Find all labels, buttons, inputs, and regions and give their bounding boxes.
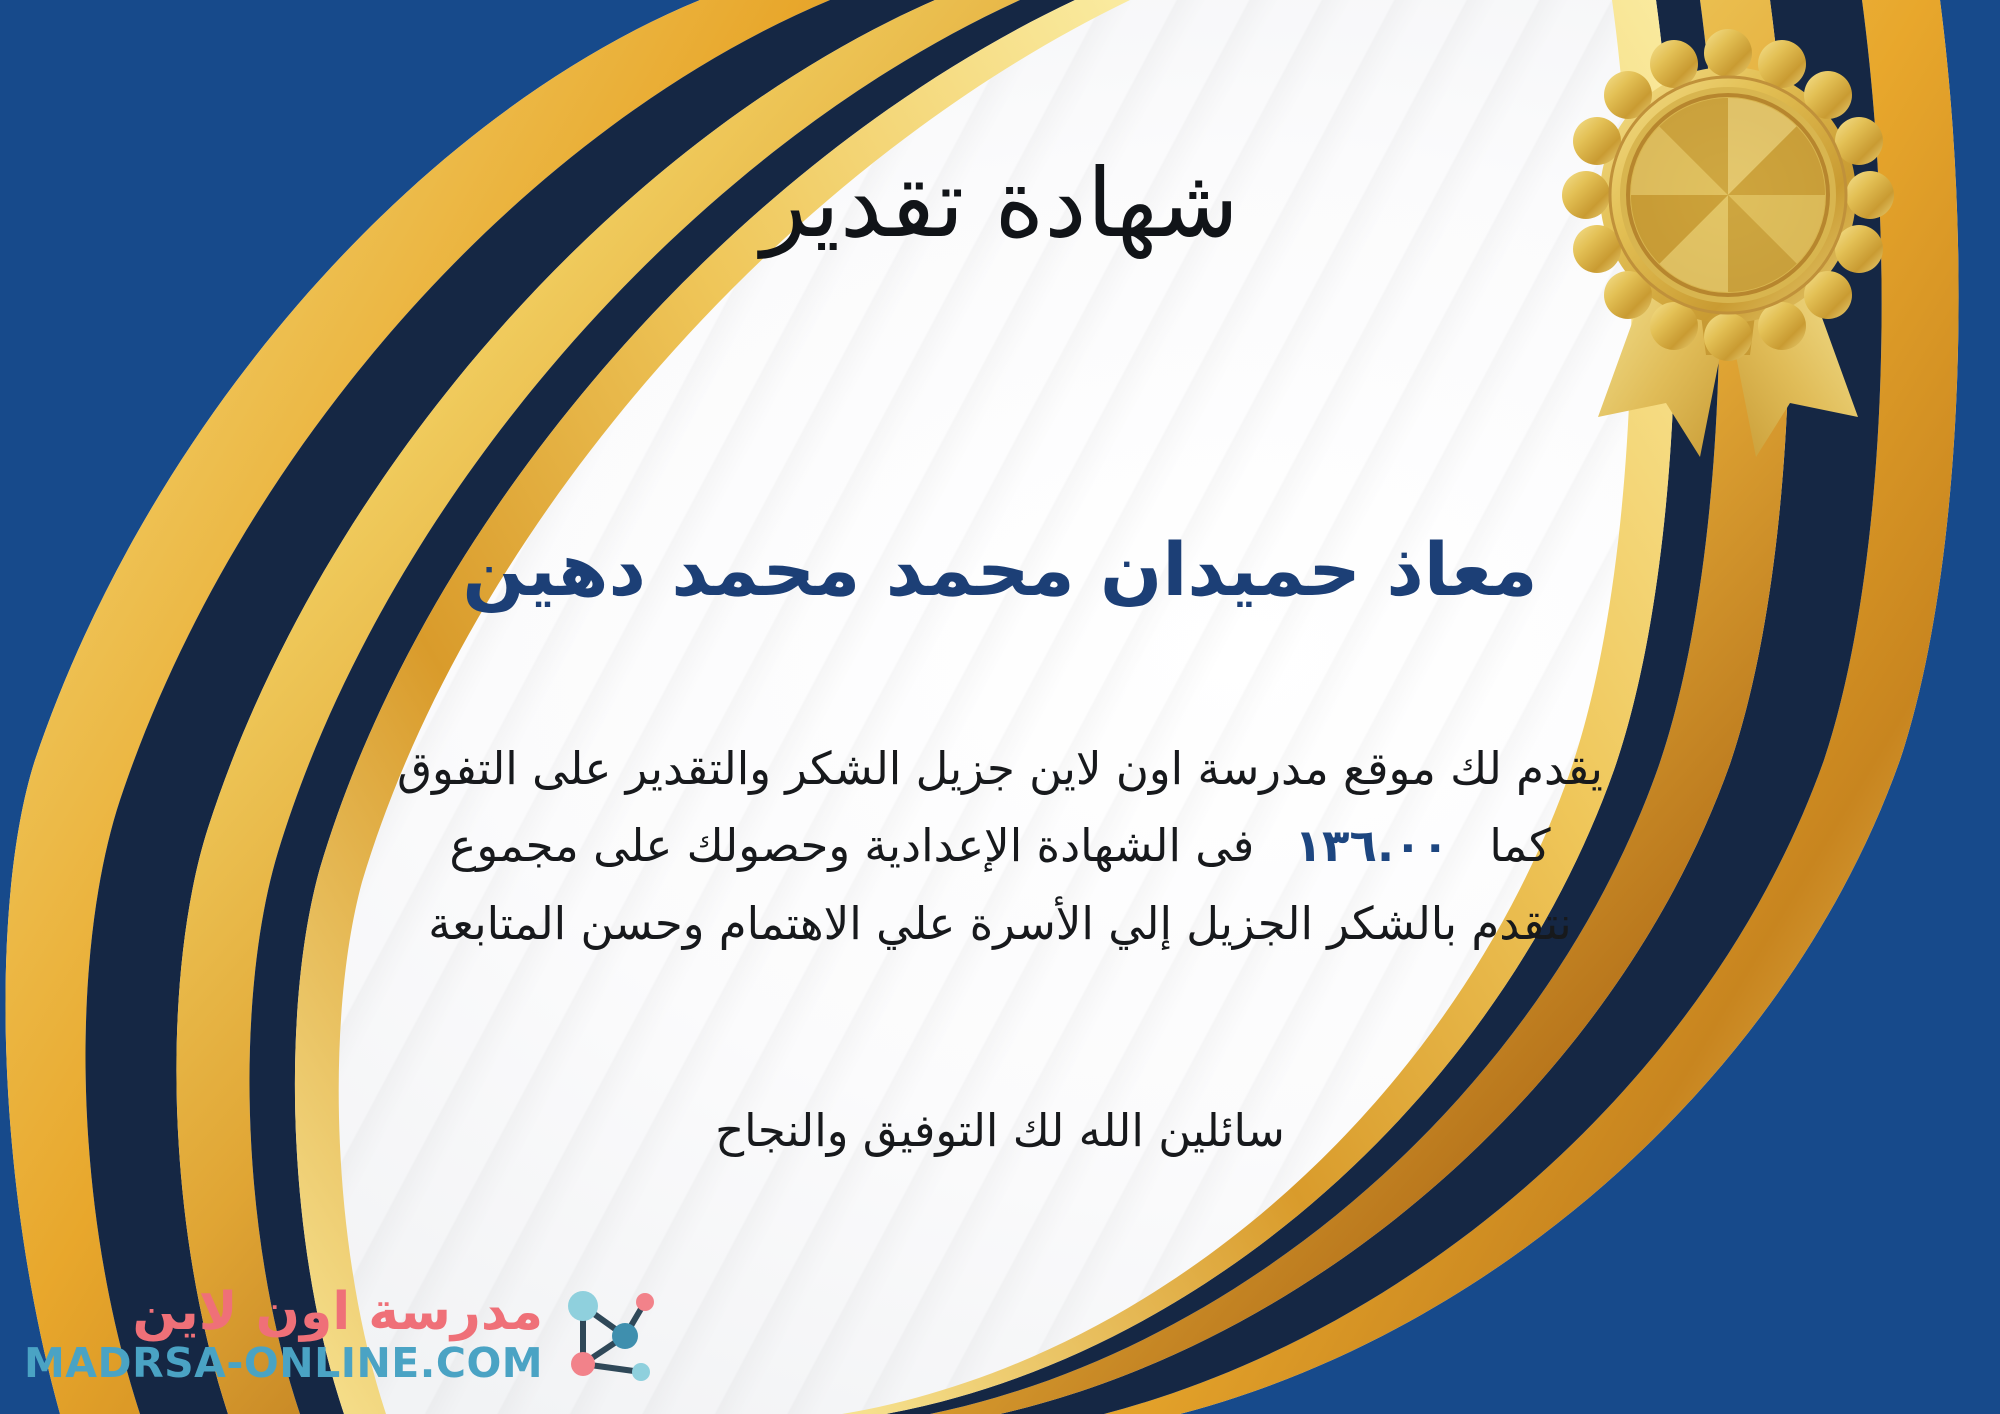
body-line-2-prefix: فى الشهادة الإعدادية وحصولك على مجموع: [450, 819, 1255, 872]
closing-line: سائلين الله لك التوفيق والنجاح: [0, 1095, 2000, 1167]
body-line-3: نتقدم بالشكر الجزيل إلي الأسرة علي الاهت…: [300, 885, 1700, 962]
student-name: معاذ حميدان محمد محمد دهين: [0, 525, 2000, 616]
certificate-content: شهادة تقدير معاذ حميدان محمد محمد دهين ي…: [0, 0, 2000, 1414]
body-line-2: كما ١٣٦.٠٠ فى الشهادة الإعدادية وحصولك ع…: [300, 807, 1700, 884]
logo-arabic-name: مدرسة اون لاين: [24, 1285, 543, 1340]
logo-text-group: مدرسة اون لاين MADRSA-ONLINE.COM: [24, 1285, 543, 1388]
score-value: ١٣٦.٠٠: [1269, 819, 1475, 872]
body-line-2-suffix: كما: [1489, 819, 1550, 872]
logo-website-url: MADRSA-ONLINE.COM: [24, 1339, 543, 1387]
page-title: شهادة تقدير: [0, 150, 2000, 259]
certificate-body: يقدم لك موقع مدرسة اون لاين جزيل الشكر و…: [300, 730, 1700, 962]
site-logo[interactable]: مدرسة اون لاين MADRSA-ONLINE.COM: [24, 1280, 665, 1392]
certificate-canvas: شهادة تقدير معاذ حميدان محمد محمد دهين ي…: [0, 0, 2000, 1414]
body-line-1: يقدم لك موقع مدرسة اون لاين جزيل الشكر و…: [300, 730, 1700, 807]
network-nodes-icon: [553, 1280, 665, 1392]
